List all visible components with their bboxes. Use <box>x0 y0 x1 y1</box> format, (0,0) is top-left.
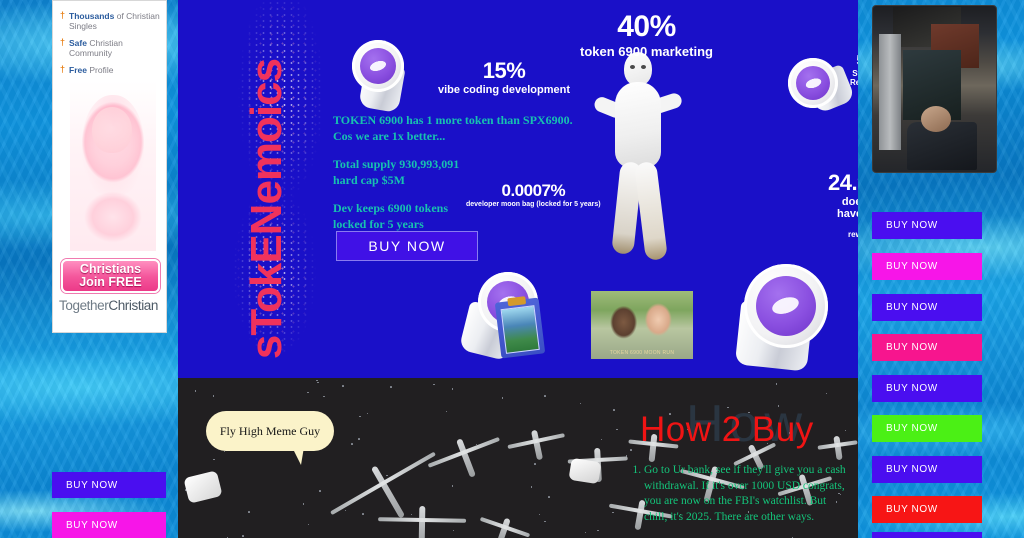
star-dot <box>358 438 360 440</box>
flying-figure-12 <box>476 510 533 538</box>
ad-bullet-list: † Thousands of Christian Singles † Safe … <box>53 1 166 86</box>
star-dot <box>351 443 353 445</box>
polaroid-card-graphic <box>495 298 545 359</box>
star-dot <box>548 496 550 498</box>
tokenomics-stat-2-label: vibe coding development <box>438 84 570 96</box>
token-logo-disc <box>756 276 816 336</box>
christians-join-free-button[interactable]: Christians Join FREE <box>61 259 160 293</box>
flying-figure-9 <box>817 433 858 462</box>
star-dot <box>826 393 828 395</box>
tokenomics-stat-3-label: Staking Rewards <box>850 69 858 87</box>
how-to-buy-title: How 2 Buy <box>640 410 814 450</box>
bucket-rim <box>744 264 828 348</box>
tokenomics-stat-6: 5%rewards/airdrops/burn <box>848 213 858 239</box>
flying-figure-3 <box>506 424 569 465</box>
star-dot <box>316 380 318 382</box>
token-bucket-icon-1 <box>352 40 420 112</box>
right-buy-now-button-9[interactable]: BUY NOW <box>872 532 982 538</box>
flying-figure-10 <box>378 505 467 538</box>
star-dot <box>776 383 778 385</box>
photo-region-panel <box>879 34 901 150</box>
right-buy-now-button-3[interactable]: BUY NOW <box>872 294 982 321</box>
tokenomics-stat-3: 5%Staking Rewards <box>850 52 858 87</box>
star-dot <box>534 463 536 465</box>
right-buy-now-label-6: BUY NOW <box>886 423 938 434</box>
token-bucket-icon-2 <box>786 50 856 116</box>
right-buy-now-button-4[interactable]: BUY NOW <box>872 334 982 361</box>
token-logo-glyph <box>363 55 392 77</box>
star-dot <box>845 430 847 432</box>
tokenomics-stat-3-percent: 5% <box>850 52 858 69</box>
left-buy-now-button-2[interactable]: BUY NOW <box>52 512 166 538</box>
token-logo-disc <box>360 48 396 84</box>
hero-body-copy: TOKEN 6900 has 1 more token than SPX6900… <box>333 112 573 244</box>
figure-body <box>531 430 543 461</box>
card-clip <box>507 296 526 306</box>
star-dot <box>342 385 344 387</box>
tokenomics-stat-1-label: token 6900 marketing <box>580 44 713 59</box>
star-dot <box>585 532 587 534</box>
figure-torso <box>615 82 661 168</box>
figure-right-leg <box>634 161 668 261</box>
tokenomics-stat-1-percent: 40% <box>580 10 713 44</box>
right-buy-now-button-5[interactable]: BUY NOW <box>872 375 982 402</box>
couple-photo-caption: TOKEN 6900 MOON RUN <box>591 350 693 356</box>
right-buy-now-button-8[interactable]: BUY NOW <box>872 496 982 523</box>
star-dot <box>452 388 454 390</box>
hero-paragraph-1: TOKEN 6900 has 1 more token than SPX6900… <box>333 112 573 144</box>
right-buy-now-button-6[interactable]: BUY NOW <box>872 415 982 442</box>
star-dot <box>213 395 215 397</box>
star-dot <box>195 390 197 392</box>
cross-icon: † <box>60 64 65 74</box>
hero-buy-now-label: BUY NOW <box>368 238 445 254</box>
dancing-figure-graphic <box>588 52 688 282</box>
card-photo <box>501 305 540 354</box>
figure-body <box>833 436 842 461</box>
left-buy-now-button-1[interactable]: BUY NOW <box>52 472 166 498</box>
bucket-rim <box>788 58 838 108</box>
star-dot <box>544 395 546 397</box>
right-buy-now-label-3: BUY NOW <box>886 302 938 313</box>
star-dot <box>317 382 319 384</box>
flying-figure-2 <box>423 426 508 491</box>
ad-cta-line2: Join FREE <box>79 276 142 289</box>
left-buy-now-label-1: BUY NOW <box>66 480 118 491</box>
how-to-buy-panel: Fly High Meme Guy How How 2 Buy Go to Ur… <box>178 378 858 538</box>
how-to-buy-step-1: Go to Ur bank, see if they'll give you a… <box>644 463 852 525</box>
star-dot <box>597 530 599 532</box>
star-dot <box>308 524 310 526</box>
how-to-buy-steps: Go to Ur bank, see if they'll give you a… <box>630 463 852 525</box>
star-dot <box>601 439 603 441</box>
tokenomics-stat-6-label: rewards/airdrops/burn <box>848 230 858 239</box>
ad-bullet-3-rest: Profile <box>89 65 113 75</box>
tokenomics-stat-7-label: developer moon bag (locked for 5 years) <box>466 201 601 208</box>
right-buy-now-label-8: BUY NOW <box>886 504 938 515</box>
ad-bullet-3-strong: Free <box>69 65 87 75</box>
swat-team-photo <box>872 5 997 173</box>
tokenomics-stat-7-percent: 0.0007% <box>466 181 601 201</box>
bucket-rim <box>352 40 404 92</box>
star-dot <box>502 397 504 399</box>
together-christian-logo: TogetherChristian <box>59 298 162 313</box>
star-dot <box>616 429 618 431</box>
star-dot <box>242 535 244 537</box>
right-buy-now-label-7: BUY NOW <box>886 464 938 475</box>
ad-model-photo <box>70 81 156 251</box>
tokenomics-hero-panel: sTokENemoics <box>178 0 858 378</box>
meme-speech-bubble: Fly High Meme Guy <box>206 411 334 451</box>
token-bucket-icon-4 <box>732 264 842 372</box>
ad-bullet-1: † Thousands of Christian Singles <box>60 11 160 31</box>
star-dot <box>390 386 392 388</box>
right-buy-now-label-5: BUY NOW <box>886 383 938 394</box>
tokenomics-stat-7: 0.0007%developer moon bag (locked for 5 … <box>466 181 601 208</box>
right-buy-now-button-2[interactable]: BUY NOW <box>872 253 982 280</box>
white-cube-left <box>183 470 222 503</box>
ad-logo-bold: Christian <box>108 298 158 313</box>
star-dot <box>248 511 250 513</box>
white-cube-right <box>568 458 601 484</box>
star-dot <box>303 503 305 505</box>
star-dot <box>580 403 582 405</box>
ad-bullet-1-strong: Thousands <box>69 11 114 21</box>
star-dot <box>544 521 546 523</box>
star-dot <box>613 409 615 411</box>
page-title-vertical: sTokENemoics <box>242 0 292 378</box>
meme-speech-bubble-text: Fly High Meme Guy <box>220 424 320 439</box>
right-buy-now-button-1[interactable]: BUY NOW <box>872 212 982 239</box>
star-dot <box>539 514 541 516</box>
star-dot <box>307 392 309 394</box>
cross-icon: † <box>60 37 65 47</box>
star-dot <box>433 384 435 386</box>
right-sidebar: BUY NOWBUY NOWBUY NOWBUY NOWBUY NOWBUY N… <box>858 0 1024 538</box>
main-content: sTokENemoics <box>178 0 858 538</box>
right-buy-now-label-4: BUY NOW <box>886 342 938 353</box>
right-buy-now-label-1: BUY NOW <box>886 220 938 231</box>
left-buy-now-label-2: BUY NOW <box>66 520 118 531</box>
couple-photo-thumbnail: TOKEN 6900 MOON RUN <box>590 290 694 360</box>
star-dot <box>446 411 448 413</box>
photo-region-face <box>921 106 951 132</box>
ad-logo-light: Together <box>59 298 108 313</box>
together-christian-ad[interactable]: † Thousands of Christian Singles † Safe … <box>52 0 167 333</box>
star-dot <box>323 396 325 398</box>
star-dot <box>359 416 361 418</box>
tokenomics-stat-2-percent: 15% <box>438 58 570 84</box>
star-dot <box>319 490 321 492</box>
tokenomics-stat-6-percent: 5% <box>848 213 858 230</box>
figure-arms <box>378 517 466 523</box>
star-dot <box>531 486 533 488</box>
cross-icon: † <box>60 10 65 20</box>
ad-bullet-2-strong: Safe <box>69 38 87 48</box>
ad-bullet-2: † Safe Christian Community <box>60 38 160 58</box>
tokenomics-stat-5-percent: 24.9993% <box>828 170 858 196</box>
token-logo-glyph <box>799 73 826 93</box>
star-dot <box>213 459 215 461</box>
token-logo-disc <box>796 66 830 100</box>
ad-bullet-3: † Free Profile <box>60 65 160 75</box>
hero-buy-now-button[interactable]: BUY NOW <box>336 231 478 261</box>
left-sidebar: † Thousands of Christian Singles † Safe … <box>0 0 178 538</box>
token-logo-glyph <box>762 288 810 324</box>
right-buy-now-button-7[interactable]: BUY NOW <box>872 456 982 483</box>
right-buy-now-label-2: BUY NOW <box>886 261 938 272</box>
figure-body <box>456 438 476 477</box>
tokenomics-stat-2: 15%vibe coding development <box>438 58 570 96</box>
tokenomics-stat-1: 40%token 6900 marketing <box>580 10 713 59</box>
star-dot <box>367 413 369 415</box>
